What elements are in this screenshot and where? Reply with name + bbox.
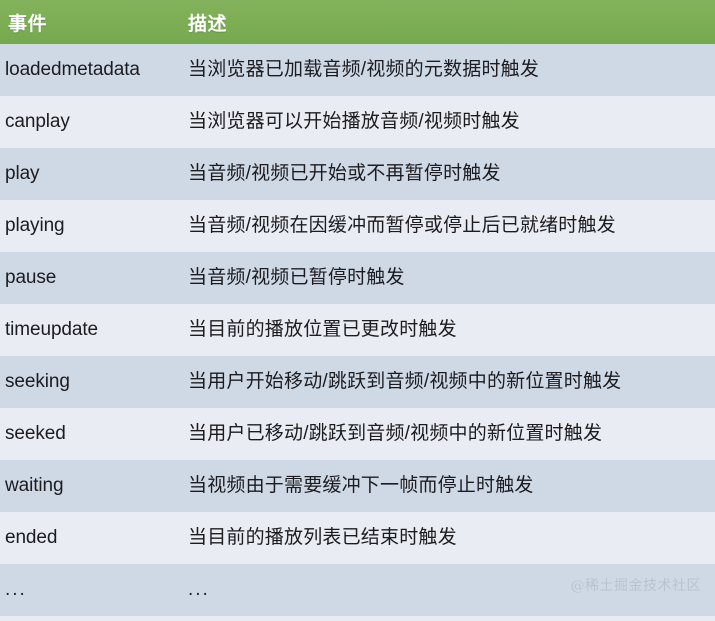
cell-event: ended xyxy=(0,527,182,549)
cell-event: seeked xyxy=(0,423,182,445)
cell-description: 当目前的播放列表已结束时触发 xyxy=(182,527,715,549)
table-row: waiting当视频由于需要缓冲下一帧而停止时触发 xyxy=(0,460,715,512)
column-header-event: 事件 xyxy=(0,9,182,36)
cell-event: playing xyxy=(0,215,182,237)
table-header-row: 事件 描述 xyxy=(0,0,715,44)
cell-description: ... xyxy=(182,579,715,601)
table-row: seeked当用户已移动/跳跃到音频/视频中的新位置时触发 xyxy=(0,408,715,460)
cell-description: 当音频/视频已开始或不再暂停时触发 xyxy=(182,163,715,185)
cell-description: 当音频/视频在因缓冲而暂停或停止后已就绪时触发 xyxy=(182,215,715,237)
cell-event: waiting xyxy=(0,475,182,497)
cell-description: 当视频由于需要缓冲下一帧而停止时触发 xyxy=(182,475,715,497)
table-row: play当音频/视频已开始或不再暂停时触发 xyxy=(0,148,715,200)
cell-description: 当浏览器已加载音频/视频的元数据时触发 xyxy=(182,59,715,81)
media-events-table: 事件 描述 loadedmetadata当浏览器已加载音频/视频的元数据时触发c… xyxy=(0,0,715,621)
table-row: canplay当浏览器可以开始播放音频/视频时触发 xyxy=(0,96,715,148)
cell-description: 当音频/视频已暂停时触发 xyxy=(182,267,715,289)
table-body: loadedmetadata当浏览器已加载音频/视频的元数据时触发canplay… xyxy=(0,44,715,616)
table-row: playing当音频/视频在因缓冲而暂停或停止后已就绪时触发 xyxy=(0,200,715,252)
cell-event: seeking xyxy=(0,371,182,393)
cell-description: 当目前的播放位置已更改时触发 xyxy=(182,319,715,341)
cell-event: loadedmetadata xyxy=(0,59,182,81)
table-row: loadedmetadata当浏览器已加载音频/视频的元数据时触发 xyxy=(0,44,715,96)
table-row: pause当音频/视频已暂停时触发 xyxy=(0,252,715,304)
table-row: ended当目前的播放列表已结束时触发 xyxy=(0,512,715,564)
cell-description: 当用户已移动/跳跃到音频/视频中的新位置时触发 xyxy=(182,423,715,445)
table-row: seeking当用户开始移动/跳跃到音频/视频中的新位置时触发 xyxy=(0,356,715,408)
column-header-description: 描述 xyxy=(182,9,715,36)
cell-event: play xyxy=(0,163,182,185)
cell-event: ... xyxy=(0,579,182,601)
cell-description: 当浏览器可以开始播放音频/视频时触发 xyxy=(182,111,715,133)
cell-event: pause xyxy=(0,267,182,289)
cell-event: timeupdate xyxy=(0,319,182,341)
table-row: timeupdate当目前的播放位置已更改时触发 xyxy=(0,304,715,356)
table-row: ...... xyxy=(0,564,715,616)
cell-description: 当用户开始移动/跳跃到音频/视频中的新位置时触发 xyxy=(182,371,715,393)
cell-event: canplay xyxy=(0,111,182,133)
